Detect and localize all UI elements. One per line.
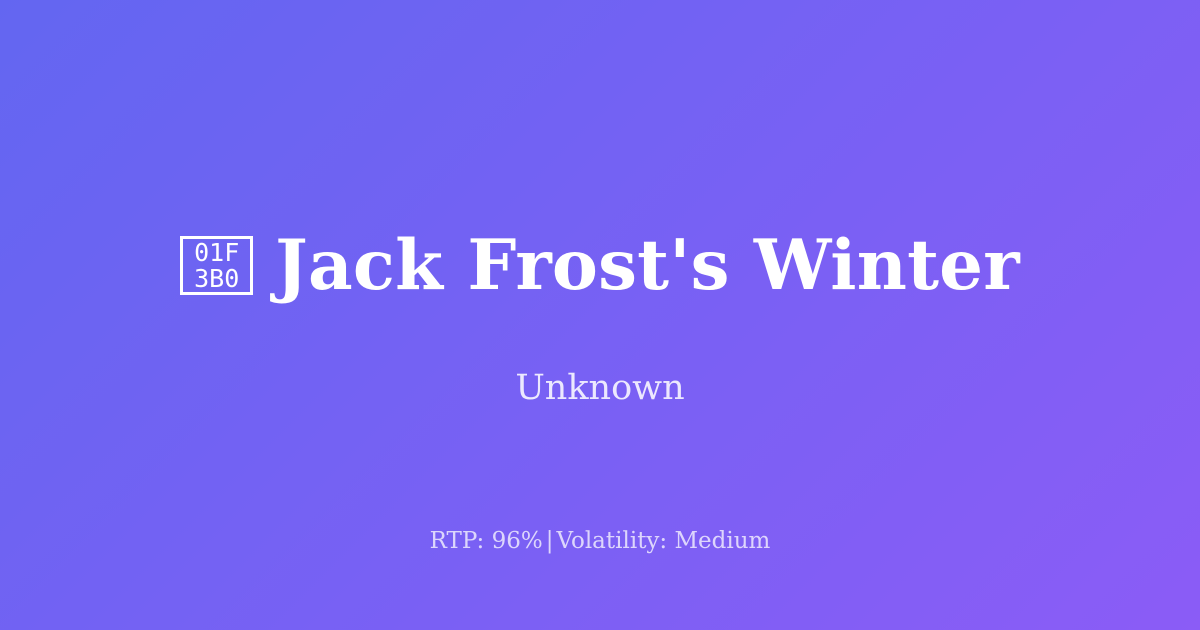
page-title: Jack Frost's Winter xyxy=(275,231,1020,300)
tofu-codepoint-bottom: 3B0 xyxy=(194,266,239,292)
provider-label: Unknown xyxy=(0,368,1200,408)
title-row: 01F 3B0 Jack Frost's Winter xyxy=(0,231,1200,300)
meta-separator: | xyxy=(543,528,557,554)
tofu-codepoint-top: 01F xyxy=(194,240,239,266)
volatility-text: Volatility: Medium xyxy=(556,528,770,554)
slot-machine-icon: 01F 3B0 xyxy=(180,236,253,295)
rtp-text: RTP: 96% xyxy=(430,528,543,554)
game-meta-line: RTP: 96%|Volatility: Medium xyxy=(0,528,1200,556)
game-og-card: 01F 3B0 Jack Frost's Winter Unknown RTP:… xyxy=(0,0,1200,630)
